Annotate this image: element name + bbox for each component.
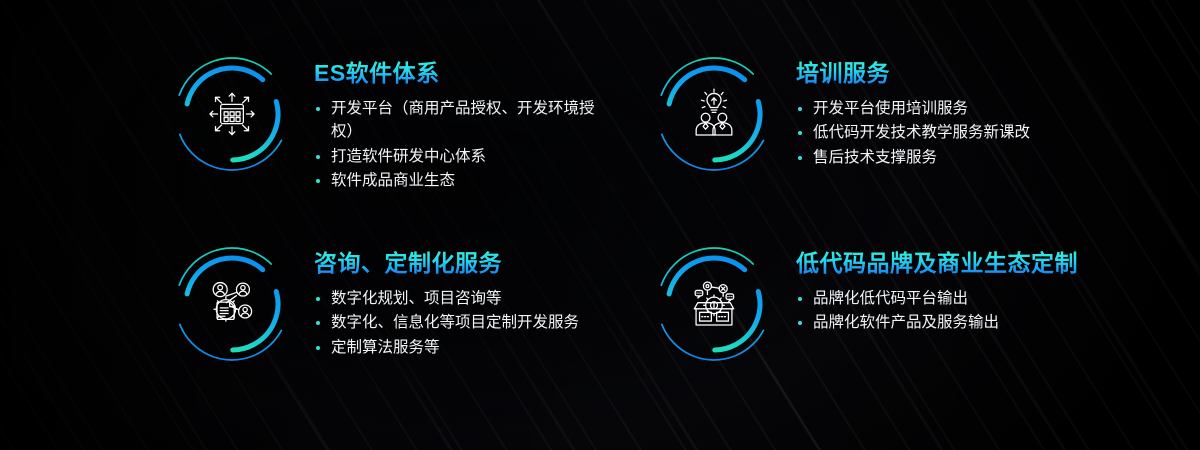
list-item: 软件成品商业生态 <box>314 169 599 193</box>
card-bullet-list: 开发平台使用培训服务 低代码开发技术教学服务新课改 售后技术支撑服务 <box>796 97 1170 170</box>
list-item: 售后技术支撑服务 <box>796 146 1170 170</box>
icon-ring-training-service <box>650 50 778 178</box>
icon-ring-lowcode-brand-ecosystem <box>650 240 778 368</box>
list-item: 开发平台使用培训服务 <box>796 97 1170 121</box>
card-body: 培训服务 开发平台使用培训服务 低代码开发技术教学服务新课改 售后技术支撑服务 <box>778 48 1170 170</box>
card-title: ES软件体系 <box>314 60 638 88</box>
lightbulb-people-icon <box>650 50 778 178</box>
feature-card-consulting-customization[interactable]: 咨询、定制化服务 数字化规划、项目咨询等 数字化、信息化等项目定制开发服务 定制… <box>168 238 638 368</box>
card-body: ES软件体系 开发平台（商用产品授权、开发环境授权） 打造软件研发中心体系 软件… <box>296 48 638 194</box>
storefront-gear-network-icon <box>650 240 778 368</box>
card-title: 低代码品牌及商业生态定制 <box>796 250 1190 278</box>
list-item: 品牌化低代码平台输出 <box>796 287 1173 311</box>
list-item: 数字化、信息化等项目定制开发服务 <box>314 311 599 335</box>
list-item: 品牌化软件产品及服务输出 <box>796 311 1173 335</box>
icon-ring-es-software-system <box>168 50 296 178</box>
card-bullet-list: 数字化规划、项目咨询等 数字化、信息化等项目定制开发服务 定制算法服务等 <box>314 287 638 360</box>
card-bullet-list: 品牌化低代码平台输出 品牌化软件产品及服务输出 <box>796 287 1190 335</box>
document-network-people-icon <box>168 240 296 368</box>
list-item: 定制算法服务等 <box>314 336 599 360</box>
feature-card-grid: ES软件体系 开发平台（商用产品授权、开发环境授权） 打造软件研发中心体系 软件… <box>0 0 1200 450</box>
card-body: 低代码品牌及商业生态定制 品牌化低代码平台输出 品牌化软件产品及服务输出 <box>778 238 1190 336</box>
card-bullet-list: 开发平台（商用产品授权、开发环境授权） 打造软件研发中心体系 软件成品商业生态 <box>314 97 638 193</box>
feature-card-training-service[interactable]: 培训服务 开发平台使用培训服务 低代码开发技术教学服务新课改 售后技术支撑服务 <box>650 48 1170 178</box>
slide-root: ES软件体系 开发平台（商用产品授权、开发环境授权） 打造软件研发中心体系 软件… <box>0 0 1200 450</box>
feature-card-lowcode-brand-ecosystem[interactable]: 低代码品牌及商业生态定制 品牌化低代码平台输出 品牌化软件产品及服务输出 <box>650 238 1190 368</box>
list-item: 数字化规划、项目咨询等 <box>314 287 599 311</box>
card-title: 咨询、定制化服务 <box>314 250 638 278</box>
list-item: 低代码开发技术教学服务新课改 <box>796 121 1170 145</box>
server-expand-icon <box>168 50 296 178</box>
list-item: 打造软件研发中心体系 <box>314 145 599 169</box>
card-body: 咨询、定制化服务 数字化规划、项目咨询等 数字化、信息化等项目定制开发服务 定制… <box>296 238 638 360</box>
list-item: 开发平台（商用产品授权、开发环境授权） <box>314 97 599 144</box>
feature-card-es-software-system[interactable]: ES软件体系 开发平台（商用产品授权、开发环境授权） 打造软件研发中心体系 软件… <box>168 48 638 194</box>
card-title: 培训服务 <box>796 60 1170 88</box>
icon-ring-consulting-customization <box>168 240 296 368</box>
